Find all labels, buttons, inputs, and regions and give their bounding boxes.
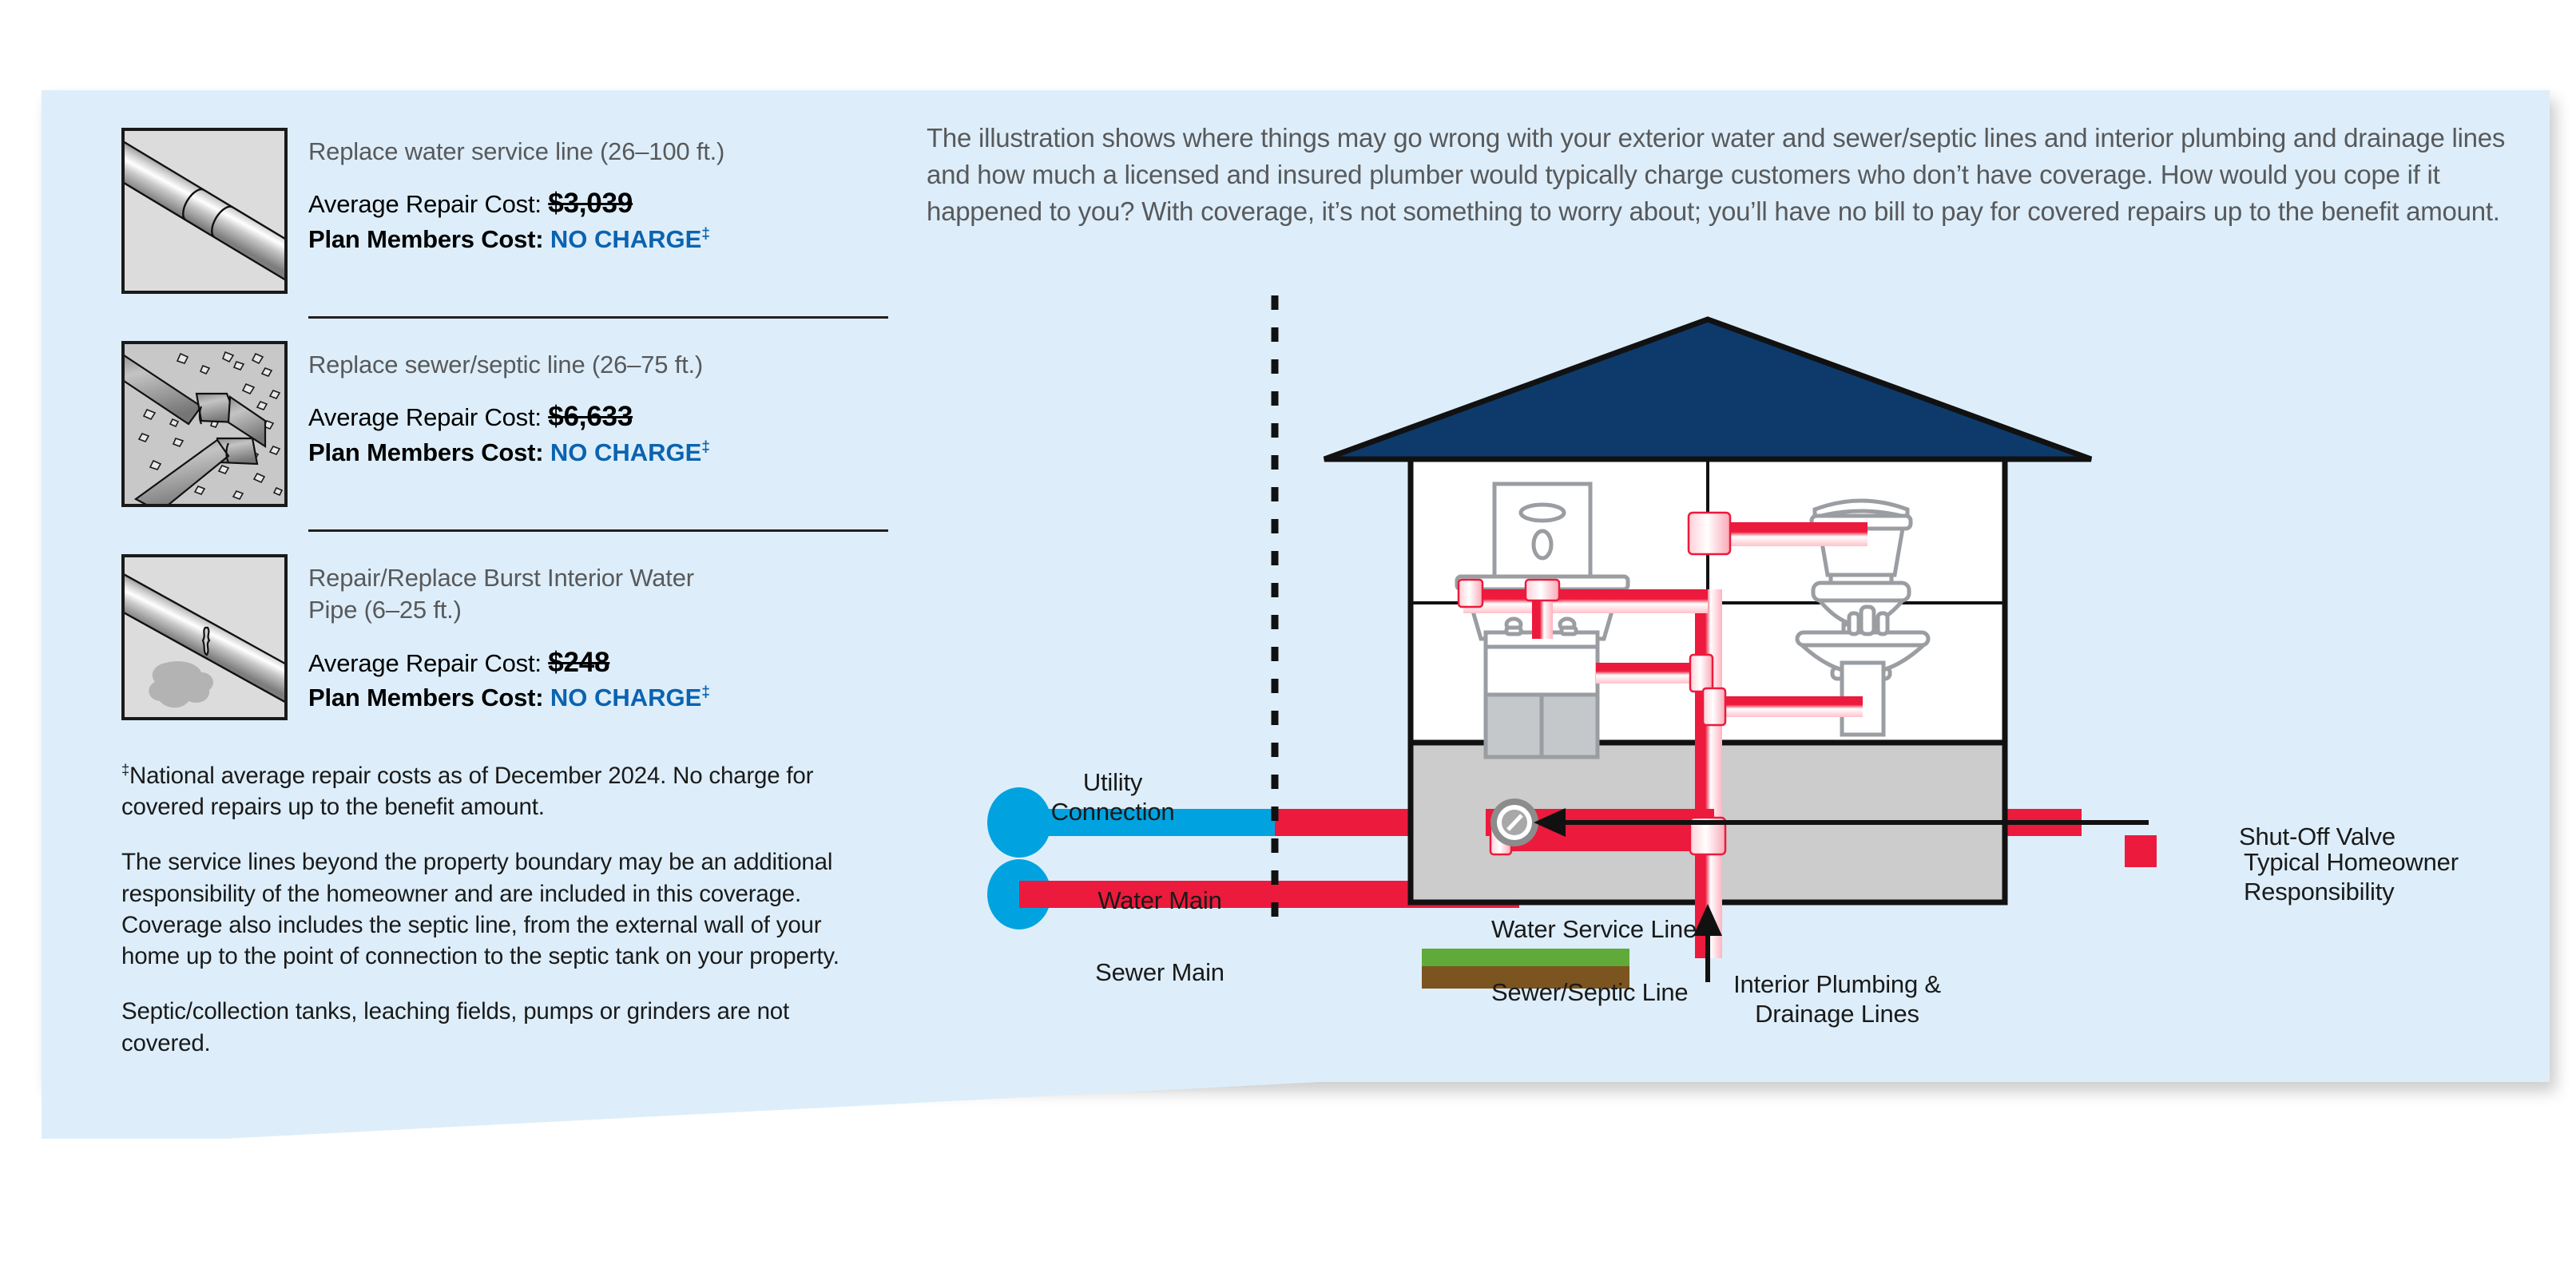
- burst-pipe-with-puddle-icon: [121, 554, 288, 720]
- sewer-pipe-in-gravel-icon: [121, 341, 288, 507]
- interior-stack-pipe: [1695, 589, 1722, 958]
- roof: [1324, 319, 2091, 459]
- left-wall-collar: [1459, 580, 1482, 607]
- average-repair-cost-value: $3,039: [548, 188, 633, 219]
- tub-collar: [1526, 580, 1559, 600]
- legend-swatch: [2125, 835, 2157, 867]
- plan-members-cost-value: NO CHARGE: [550, 225, 701, 253]
- average-repair-cost-label: Average Repair Cost:: [308, 403, 542, 431]
- cost-item-title: Repair/Replace Burst Interior Water Pipe…: [308, 562, 710, 627]
- legend-label: Typical Homeowner Responsibility: [2244, 848, 2524, 906]
- infographic-canvas: Replace water service line (26–100 ft.) …: [0, 0, 2576, 1288]
- plan-members-cost-line: Plan Members Cost: NO CHARGE‡: [308, 436, 710, 470]
- average-repair-cost-label: Average Repair Cost:: [308, 649, 542, 677]
- label-interior-plumbing: Interior Plumbing & Drainage Lines: [1677, 970, 1997, 1028]
- label-water-service-line: Water Service Line: [1491, 915, 1697, 945]
- label-water-main: Water Main: [1097, 886, 1221, 916]
- footnote-marker: ‡: [701, 439, 710, 456]
- plumbing-diagram: Utility Connection Water Main Sewer Main…: [927, 264, 2524, 1046]
- average-repair-cost-value: $6,633: [548, 401, 633, 432]
- average-repair-cost-line: Average Repair Cost: $6,633: [308, 398, 710, 436]
- plan-members-cost-label: Plan Members Cost:: [308, 225, 543, 253]
- interior-branch-toilet: [1722, 522, 1868, 546]
- cost-item: Repair/Replace Burst Interior Water Pipe…: [121, 554, 888, 720]
- cost-item: Replace sewer/septic line (26–75 ft.) Av…: [121, 341, 888, 507]
- plan-members-cost-label: Plan Members Cost:: [308, 438, 543, 466]
- coverage-paragraph-1: The service lines beyond the property bo…: [121, 846, 844, 972]
- shut-off-valve-icon: [1490, 799, 1538, 846]
- kitchen-collar: [1690, 655, 1713, 692]
- intro-paragraph: The illustration shows where things may …: [927, 120, 2508, 231]
- footnote-text: ‡National average repair costs as of Dec…: [121, 760, 864, 822]
- cost-item-text: Replace sewer/septic line (26–75 ft.) Av…: [308, 341, 710, 470]
- footnote-marker: ‡: [701, 226, 710, 243]
- plan-members-cost-value: NO CHARGE: [550, 438, 701, 466]
- pedestal-collar: [1703, 688, 1725, 725]
- plan-members-cost-line: Plan Members Cost: NO CHARGE‡: [308, 681, 710, 715]
- footnote-body: National average repair costs as of Dece…: [121, 763, 813, 820]
- plan-members-cost-line: Plan Members Cost: NO CHARGE‡: [308, 223, 724, 256]
- interior-branch-tub: [1463, 589, 1708, 613]
- pipe-with-coupling-icon: [121, 128, 288, 294]
- average-repair-cost-value: $248: [548, 647, 609, 678]
- cost-item: Replace water service line (26–100 ft.) …: [121, 128, 888, 294]
- average-repair-cost-line: Average Repair Cost: $3,039: [308, 185, 724, 223]
- cost-list: Replace water service line (26–100 ft.) …: [121, 128, 888, 1059]
- cost-item-text: Replace water service line (26–100 ft.) …: [308, 128, 724, 256]
- average-repair-cost-label: Average Repair Cost:: [308, 190, 542, 218]
- footnote-marker: ‡: [701, 684, 710, 701]
- cost-item-title: Replace sewer/septic line (26–75 ft.): [308, 349, 710, 381]
- divider: [308, 316, 888, 319]
- cost-item-title: Replace water service line (26–100 ft.): [308, 136, 724, 168]
- plan-members-cost-value: NO CHARGE: [550, 684, 701, 711]
- average-repair-cost-line: Average Repair Cost: $248: [308, 644, 710, 682]
- label-utility-connection: Utility Connection: [985, 768, 1240, 826]
- grass-strip: [1422, 949, 1629, 966]
- plan-members-cost-label: Plan Members Cost:: [308, 684, 543, 711]
- toilet-collar: [1689, 513, 1730, 554]
- cost-item-text: Repair/Replace Burst Interior Water Pipe…: [308, 554, 710, 715]
- interior-branch-pedestal: [1722, 696, 1863, 717]
- coverage-paragraph-2: Septic/collection tanks, leaching fields…: [121, 996, 844, 1058]
- label-sewer-main: Sewer Main: [1095, 958, 1224, 988]
- label-sewer-septic-line: Sewer/Septic Line: [1491, 978, 1688, 1008]
- divider: [308, 529, 888, 532]
- footnote-marker: ‡: [121, 761, 129, 778]
- interior-branch-kitchen: [1596, 663, 1700, 684]
- info-card-tail: [42, 1081, 1320, 1139]
